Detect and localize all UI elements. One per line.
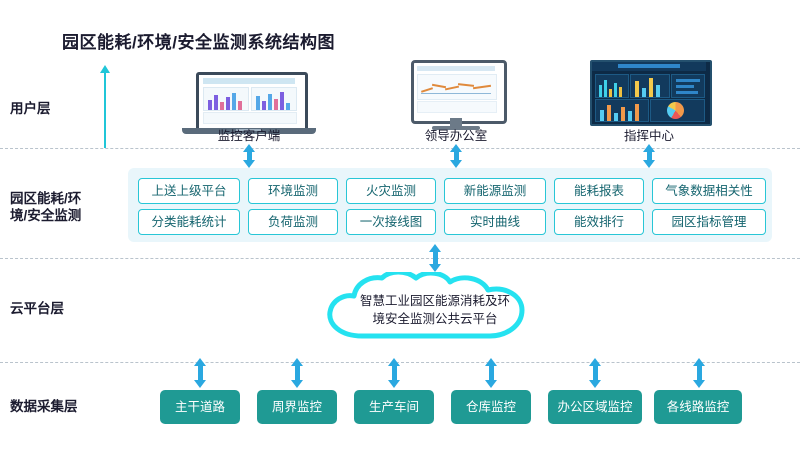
monitor-table <box>417 101 497 113</box>
arrow-desktop-to-functions <box>450 144 463 168</box>
function-panel: 上送上级平台 环境监测 火灾监测 新能源监测 能耗报表 气象数据相关性 分类能耗… <box>128 168 772 242</box>
data-box-main-road[interactable]: 主干道路 <box>160 390 240 424</box>
arrow-cloud-to-perimeter <box>291 358 304 388</box>
separator-user-function <box>0 148 800 149</box>
dashboard-panel-3 <box>671 74 705 98</box>
page-title: 园区能耗/环境/安全监测系统结构图 <box>62 28 335 53</box>
arrow-cloud-to-main-road <box>194 358 207 388</box>
data-box-warehouse[interactable]: 仓库监控 <box>451 390 531 424</box>
function-chip-new-energy-monitor[interactable]: 新能源监测 <box>444 178 546 204</box>
cloud-platform-label-line2: 境安全监测公共云平台 <box>310 310 560 328</box>
function-chip-weather-correlation[interactable]: 气象数据相关性 <box>652 178 766 204</box>
function-chip-upload-platform[interactable]: 上送上级平台 <box>138 178 240 204</box>
function-chip-realtime-curve[interactable]: 实时曲线 <box>444 209 546 235</box>
laptop-chart-right <box>251 87 297 111</box>
arrow-cloud-to-lines <box>693 358 706 388</box>
monitor-screen-header <box>417 66 495 71</box>
separator-function-cloud <box>0 258 800 259</box>
dashboard-panel-pie <box>650 99 705 122</box>
monitor-caption: 领导办公室 <box>406 125 506 144</box>
dashboard-caption: 指挥中心 <box>599 125 699 144</box>
cloud-platform-label: 智慧工业园区能源消耗及环 境安全监测公共云平台 <box>310 292 560 328</box>
function-chip-energy-classification[interactable]: 分类能耗统计 <box>138 209 240 235</box>
data-box-office-area[interactable]: 办公区域监控 <box>548 390 642 424</box>
data-box-perimeter[interactable]: 周界监控 <box>257 390 337 424</box>
cloud-platform-label-line1: 智慧工业园区能源消耗及环 <box>310 292 560 310</box>
monitor-line-chart <box>417 74 497 100</box>
laptop-table <box>203 112 297 124</box>
function-chip-efficiency-ranking[interactable]: 能效排行 <box>554 209 644 235</box>
function-chip-energy-report[interactable]: 能耗报表 <box>554 178 644 204</box>
arrow-laptop-to-functions <box>243 144 256 168</box>
monitor-screen-content <box>414 63 498 115</box>
dashboard-panel-1 <box>595 74 629 98</box>
diagram-canvas: 园区能耗/环境/安全监测系统结构图 用户层 园区能耗/环境/安全监测 云平台层 … <box>0 0 800 450</box>
layer-label-cloud: 云平台层 <box>10 300 96 318</box>
function-chip-single-line-diagram[interactable]: 一次接线图 <box>346 209 436 235</box>
dashboard-panel-2 <box>630 74 670 98</box>
function-chip-park-indicator-management[interactable]: 园区指标管理 <box>652 209 766 235</box>
laptop-chart-left <box>203 87 249 111</box>
data-box-line-monitor[interactable]: 各线路监控 <box>654 390 742 424</box>
function-chip-environment-monitor[interactable]: 环境监测 <box>248 178 338 204</box>
layer-label-function: 园区能耗/环境/安全监测 <box>10 190 96 224</box>
monitor-screen <box>411 60 507 124</box>
arrow-cloud-to-warehouse <box>485 358 498 388</box>
dashboard-screen <box>590 60 712 126</box>
function-chip-load-monitor[interactable]: 负荷监测 <box>248 209 338 235</box>
laptop-screen-header <box>203 78 295 84</box>
arrow-functions-to-cloud <box>429 244 442 272</box>
layer-label-user: 用户层 <box>10 100 96 118</box>
arrow-cloud-to-workshop <box>388 358 401 388</box>
cloud-platform: 智慧工业园区能源消耗及环 境安全监测公共云平台 <box>310 272 560 348</box>
layer-label-data: 数据采集层 <box>10 398 96 416</box>
user-layer-axis <box>104 72 106 148</box>
data-box-workshop[interactable]: 生产车间 <box>354 390 434 424</box>
dashboard-panel-4 <box>595 99 649 122</box>
function-chip-fire-monitor[interactable]: 火灾监测 <box>346 178 436 204</box>
layer-label-function-text: 园区能耗/环境/安全监测 <box>10 191 81 223</box>
arrow-command-to-functions <box>643 144 656 168</box>
arrow-cloud-to-office <box>589 358 602 388</box>
laptop-caption: 监控客户端 <box>199 125 299 144</box>
dashboard-title-bar <box>592 62 706 71</box>
laptop-screen-content <box>199 75 299 125</box>
